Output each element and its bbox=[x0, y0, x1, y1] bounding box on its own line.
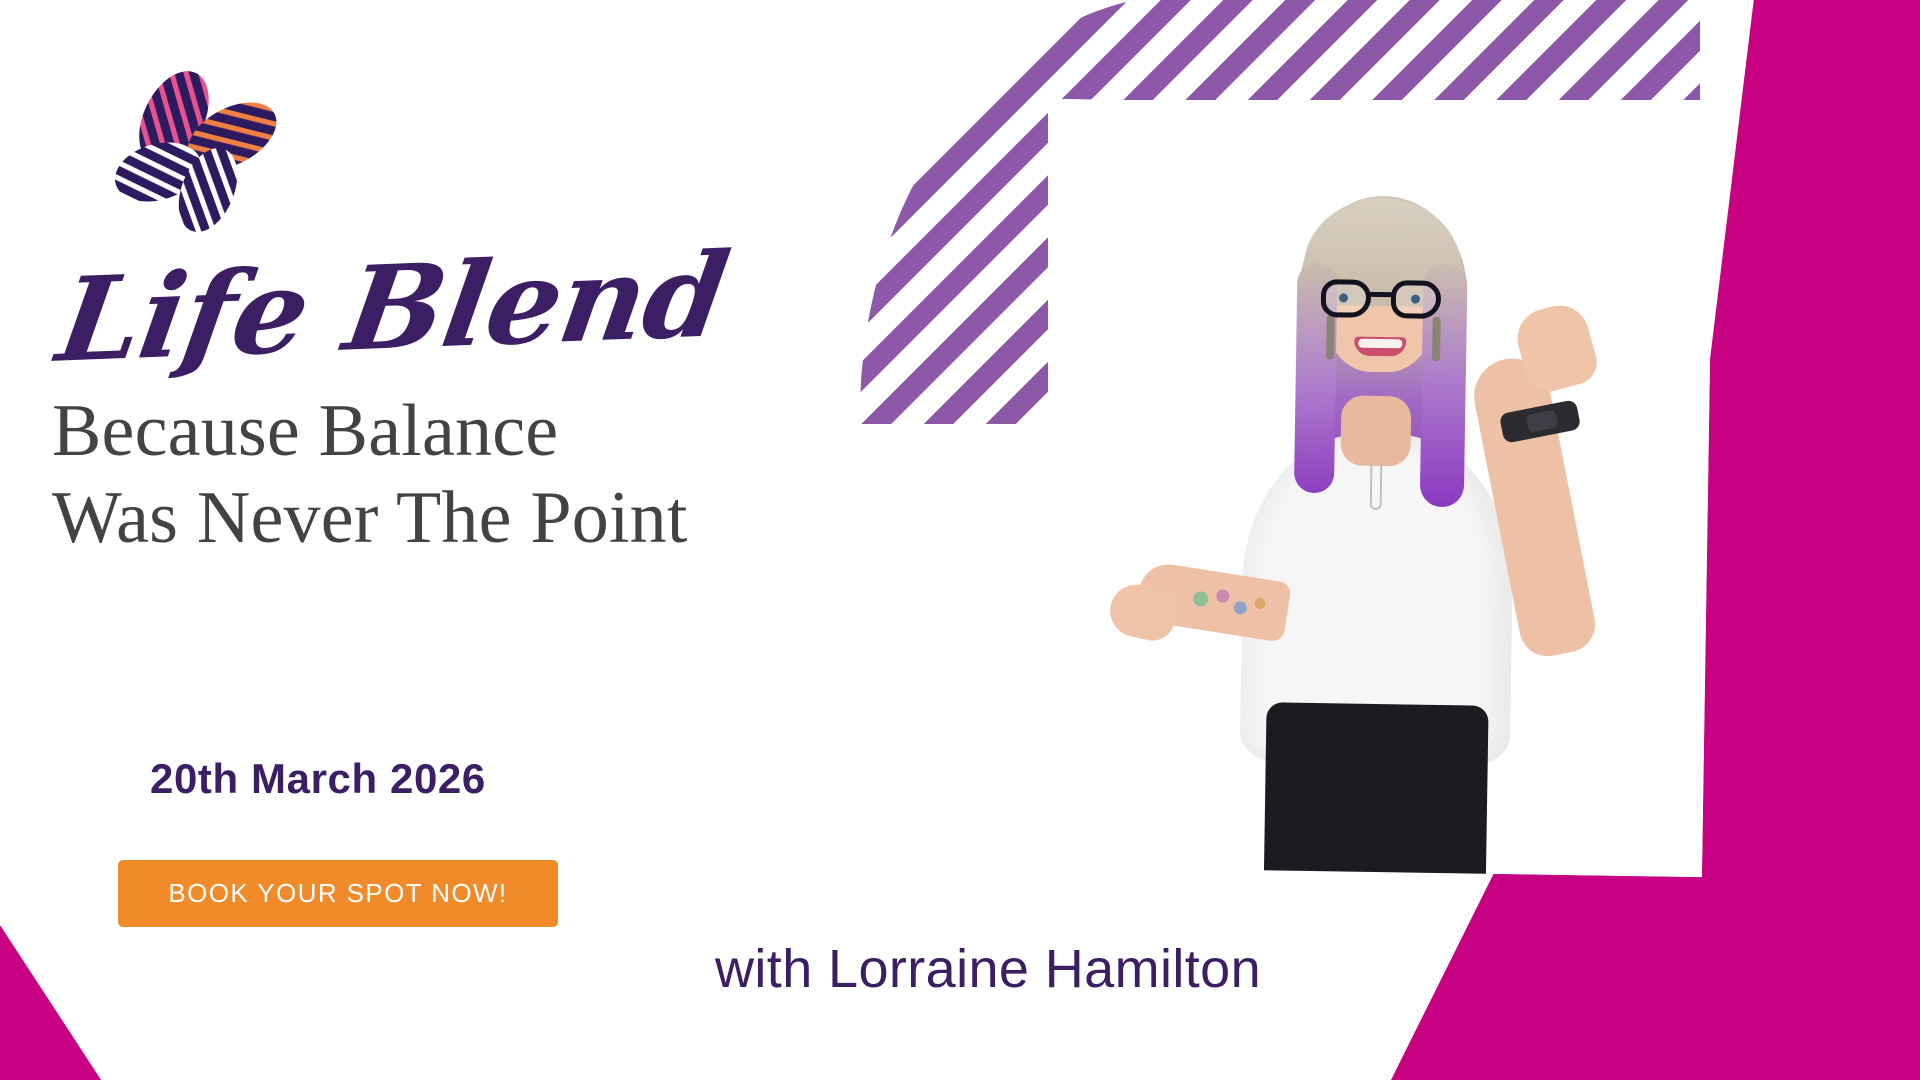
eye-right bbox=[1411, 294, 1420, 303]
content-column: Life Blend Because Balance Was Never The… bbox=[0, 0, 860, 1080]
necklace bbox=[1370, 464, 1383, 510]
event-date: 20th March 2026 bbox=[150, 755, 486, 803]
presenter-name: with Lorraine Hamilton bbox=[715, 938, 1261, 1000]
teeth bbox=[1358, 339, 1402, 349]
eye-left bbox=[1339, 293, 1348, 302]
earring-left bbox=[1326, 315, 1335, 359]
promo-banner: Life Blend Because Balance Was Never The… bbox=[0, 0, 1920, 1080]
headline-line-2: Was Never The Point bbox=[52, 475, 812, 562]
trousers bbox=[1264, 702, 1489, 877]
book-your-spot-button[interactable]: BOOK YOUR SPOT NOW! bbox=[118, 860, 558, 927]
headline-line-1: Because Balance bbox=[52, 388, 812, 475]
earring-right bbox=[1432, 317, 1441, 361]
presenter-photo-inner bbox=[1042, 99, 1714, 877]
brand-wordmark: Life Blend bbox=[51, 241, 633, 378]
glasses-bridge bbox=[1369, 292, 1393, 297]
presenter-portrait-illustration bbox=[1042, 99, 1714, 877]
page-title: Because Balance Was Never The Point bbox=[52, 388, 812, 563]
presenter-photo bbox=[1042, 99, 1714, 877]
neck bbox=[1340, 395, 1411, 466]
butterfly-logo-icon bbox=[96, 62, 296, 232]
